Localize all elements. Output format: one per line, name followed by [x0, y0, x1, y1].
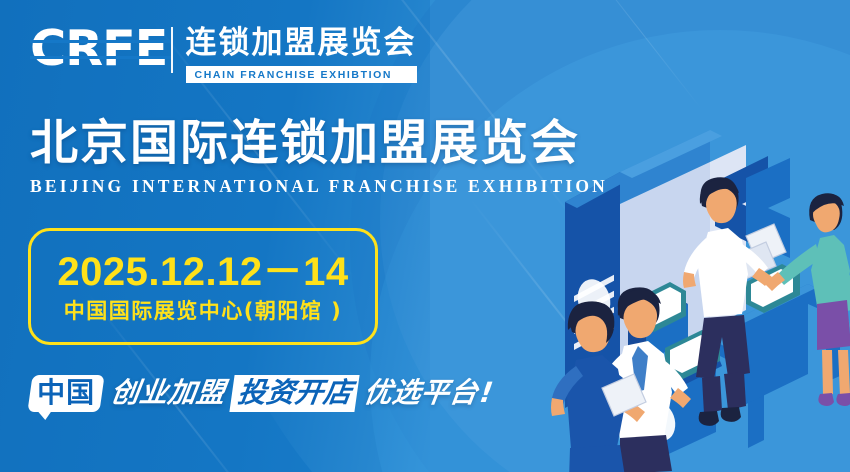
event-title-block: 北京国际连锁加盟展览会 BEIJING INTERNATIONAL FRANCH… — [30, 116, 608, 196]
event-venue: 中国国际展览中心(朝阳馆 ) — [64, 298, 343, 324]
date-venue-box: 2025.12.12－14 中国国际展览中心(朝阳馆 ) — [28, 228, 378, 345]
event-dates: 2025.12.12－14 — [57, 250, 348, 294]
tagline-part-1: 创业加盟 — [109, 377, 228, 409]
logo-divider — [171, 27, 173, 73]
tagline-block: 中国 创业加盟 投资开店 优选平台 ! — [30, 370, 493, 416]
tagline-part-2: 优选平台 — [362, 377, 481, 409]
logo-english-name: CHAIN FRANCHISE EXHIBTION — [186, 66, 417, 83]
tagline-badge: 中国 — [27, 375, 104, 412]
tagline-exclamation: ! — [478, 377, 495, 409]
logo-stencil-gaps — [30, 24, 172, 74]
logo-text-block: 连锁加盟展览会 CHAIN FRANCHISE EXHIBTION — [186, 24, 417, 83]
brand-logo: CRFE 连锁加盟展览会 CHAIN FRANCHISE EXHIBTION — [30, 24, 417, 83]
event-banner: CRFE 连锁加盟展览会 CHAIN FRANCHISE EXHIBTION 北… — [0, 0, 850, 472]
tagline-highlight: 投资开店 — [229, 375, 359, 412]
logo-mark: CRFE — [30, 24, 172, 74]
logo-chinese-name: 连锁加盟展览会 — [186, 24, 417, 62]
event-title-english: BEIJING INTERNATIONAL FRANCHISE EXHIBITI… — [30, 176, 608, 196]
tagline-badge-label: 中国 — [37, 378, 95, 408]
event-title-chinese: 北京国际连锁加盟展览会 — [30, 116, 608, 170]
